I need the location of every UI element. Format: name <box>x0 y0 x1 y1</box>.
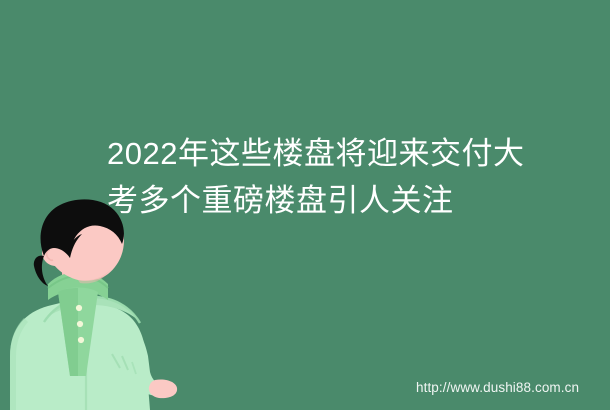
promo-banner: 2022年这些楼盘将迎来交付大考多个重磅楼盘引人关注 http://www.du… <box>0 0 610 410</box>
page-title: 2022年这些楼盘将迎来交付大考多个重磅楼盘引人关注 <box>107 130 547 224</box>
person-illustration <box>0 196 200 410</box>
hand <box>149 379 177 398</box>
watermark-url: http://www.dushi88.com.cn <box>416 379 579 396</box>
